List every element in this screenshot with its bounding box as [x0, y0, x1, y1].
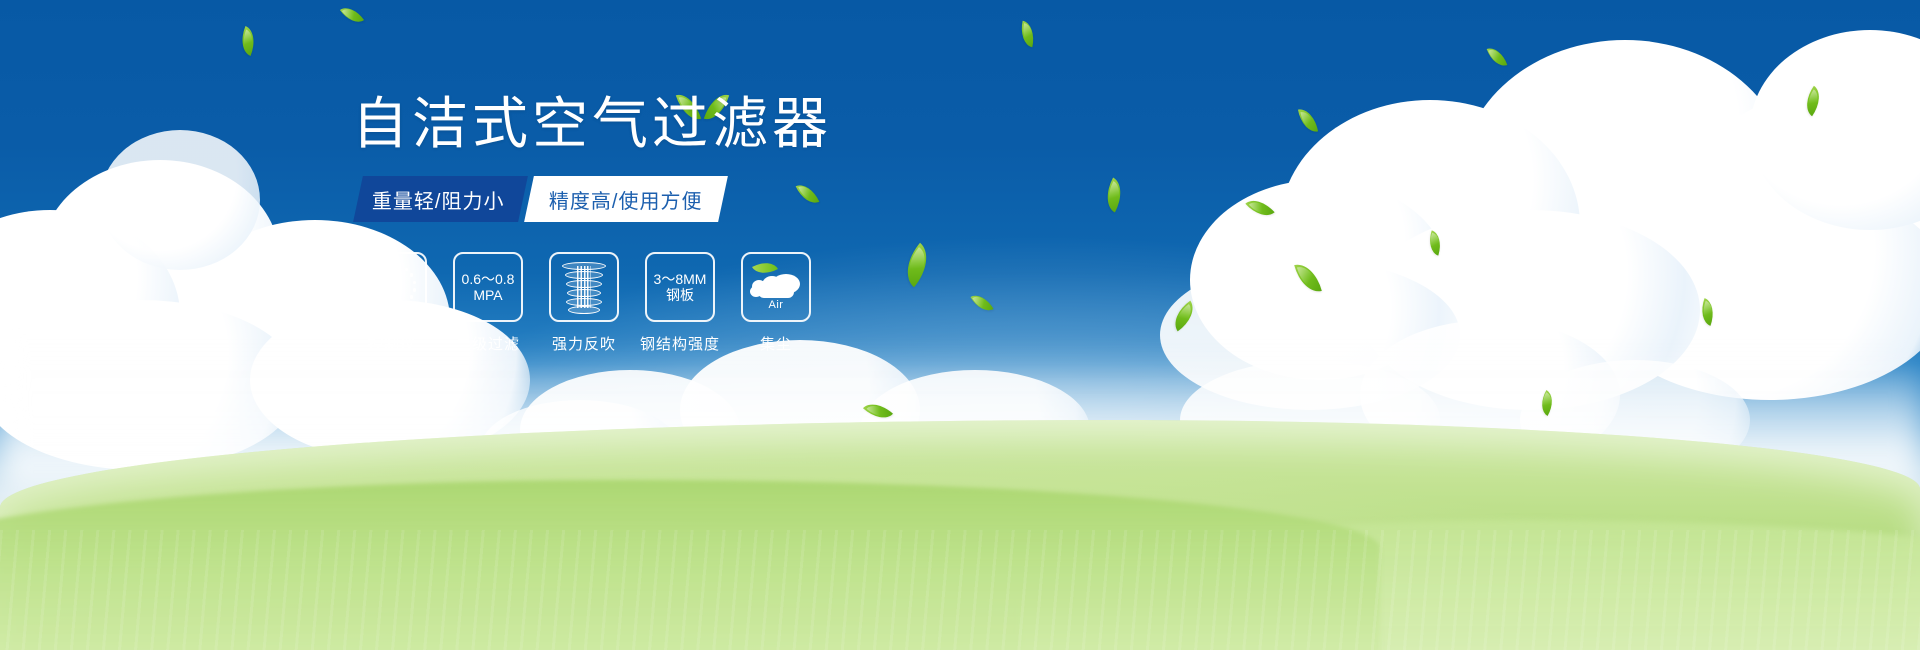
leaf-icon — [1535, 390, 1558, 416]
leaf-icon — [1099, 178, 1129, 213]
gauge-icon: NO OFF — [365, 260, 419, 314]
air-cloud-icon: Air — [750, 264, 802, 310]
product-banner: 自洁式空气过滤器 重量轻/阻力小 精度高/使用方便 — [0, 0, 1920, 650]
leaf-icon — [1298, 107, 1318, 134]
gauge-no-label: NO — [364, 284, 374, 291]
subtitle-left-tag: 重量轻/阻力小 — [353, 176, 527, 222]
leaf-icon — [1245, 193, 1274, 223]
feature-icon-box: 3～8MM 钢板 — [645, 252, 715, 322]
page-title: 自洁式空气过滤器 — [352, 96, 1070, 152]
feature-item-steel: 3～8MM 钢板 钢结构强度 — [644, 252, 716, 354]
pressure-unit: MPA — [473, 287, 502, 303]
leaf-icon — [1487, 44, 1508, 69]
steel-thickness: 3～8MM — [654, 271, 707, 287]
leaf-icon — [1799, 86, 1827, 116]
leaf-icon — [340, 2, 364, 28]
feature-item-controller: NO OFF 控制仪 — [356, 252, 428, 354]
feature-item-pressure: 0.6～0.8 MPA 二级过滤 — [452, 252, 524, 354]
feature-label: 集尘 — [760, 333, 792, 354]
feature-icon-box: 0.6～0.8 MPA — [453, 252, 523, 322]
gauge-needle — [388, 273, 397, 305]
leaf-icon — [236, 26, 261, 56]
feature-label: 钢结构强度 — [640, 333, 720, 354]
coil-blowback-icon — [561, 262, 607, 312]
subtitle-right-tag: 精度高/使用方便 — [524, 176, 727, 222]
leaf-icon — [1167, 301, 1200, 332]
air-label: Air — [750, 299, 802, 311]
feature-label: 二级过滤 — [456, 333, 520, 354]
leaf-icon — [1696, 298, 1718, 326]
leaf-icon — [1018, 21, 1038, 48]
gauge-off-label: OFF — [405, 305, 419, 312]
feature-icon-box: Air — [741, 252, 811, 322]
feature-label: 控制仪 — [368, 333, 416, 354]
feature-icon-box — [549, 252, 619, 322]
feature-item-blowback: 强力反吹 — [548, 252, 620, 354]
cloud-right — [1160, 30, 1920, 410]
subtitle-bar: 重量轻/阻力小 精度高/使用方便 — [350, 176, 1070, 222]
feature-icon-box: NO OFF — [357, 252, 427, 322]
banner-content: 自洁式空气过滤器 重量轻/阻力小 精度高/使用方便 — [350, 96, 1070, 354]
grass-hill-left — [0, 480, 1380, 650]
pressure-value: 0.6～0.8 — [462, 271, 515, 287]
leaf-icon — [1294, 260, 1322, 296]
feature-label: 强力反吹 — [552, 333, 616, 354]
steel-material: 钢板 — [666, 287, 694, 303]
subtitle-left-label: 重量轻/阻力小 — [372, 185, 505, 214]
feature-list: NO OFF 控制仪 0.6～0.8 MPA 二级过滤 — [356, 252, 1070, 354]
leaf-icon — [1425, 230, 1445, 255]
feature-item-dust: Air 集尘 — [740, 252, 812, 354]
subtitle-right-label: 精度高/使用方便 — [549, 185, 703, 214]
